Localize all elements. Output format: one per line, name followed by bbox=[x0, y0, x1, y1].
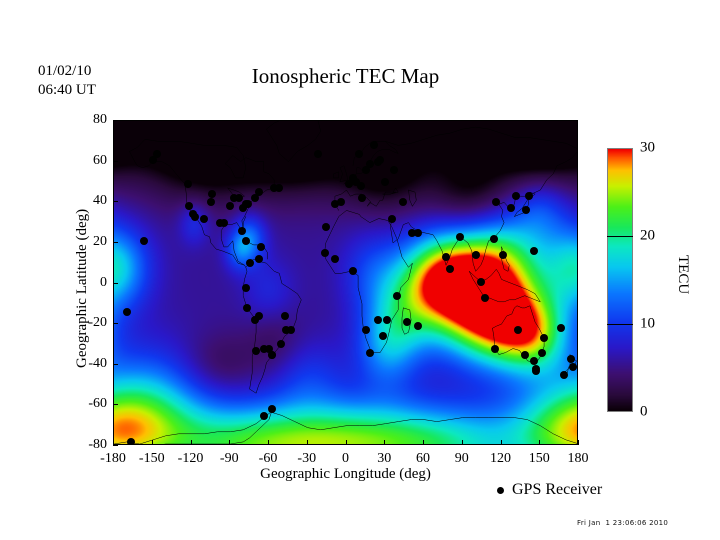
gps-receiver-marker bbox=[321, 249, 329, 257]
gps-receiver-marker bbox=[538, 349, 546, 357]
colorbar-title: TECU bbox=[674, 255, 691, 294]
gps-receiver-marker bbox=[337, 198, 345, 206]
gps-receiver-marker bbox=[560, 371, 568, 379]
gps-receiver-marker bbox=[127, 438, 135, 445]
gps-receiver-marker bbox=[238, 227, 246, 235]
gps-receiver-marker bbox=[207, 198, 215, 206]
colorbar bbox=[607, 148, 633, 412]
gps-receiver-marker bbox=[200, 215, 208, 223]
gps-receiver-marker bbox=[491, 345, 499, 353]
gps-receiver-markers bbox=[114, 121, 578, 445]
gps-receiver-marker bbox=[379, 332, 387, 340]
x-axis-tick bbox=[346, 440, 347, 445]
x-axis-tick bbox=[578, 440, 579, 445]
gps-receiver-marker bbox=[362, 326, 370, 334]
colorbar-tick-label: 20 bbox=[640, 228, 655, 245]
colorbar-tick-label: 0 bbox=[640, 404, 648, 421]
gps-receiver-marker bbox=[184, 180, 192, 188]
colorbar-tick-label: 10 bbox=[640, 316, 655, 333]
y-axis-tick-label: 40 bbox=[61, 193, 107, 209]
gps-receiver-marker bbox=[525, 192, 533, 200]
gps-receiver-marker bbox=[388, 215, 396, 223]
gps-receiver-marker bbox=[477, 278, 485, 286]
y-axis-tick-label: 60 bbox=[61, 153, 107, 169]
gps-receiver-marker bbox=[530, 357, 538, 365]
x-axis-tick bbox=[423, 440, 424, 445]
legend: GPS Receiver bbox=[497, 481, 602, 499]
y-axis-tick bbox=[113, 283, 118, 284]
gps-receiver-marker bbox=[390, 166, 398, 174]
y-axis-tick bbox=[113, 201, 118, 202]
colorbar-tick bbox=[607, 236, 633, 237]
gps-receiver-marker bbox=[376, 156, 384, 164]
gps-receiver-marker bbox=[246, 259, 254, 267]
gps-receiver-marker bbox=[567, 355, 575, 363]
gps-receiver-marker bbox=[257, 243, 265, 251]
gps-receiver-marker bbox=[357, 182, 365, 190]
gps-receiver-marker bbox=[374, 316, 382, 324]
gps-receiver-marker bbox=[191, 213, 199, 221]
gps-receiver-marker bbox=[268, 405, 276, 413]
gps-receiver-marker bbox=[569, 363, 577, 371]
x-axis-tick bbox=[191, 440, 192, 445]
x-axis-tick-label: 180 bbox=[548, 451, 608, 467]
tec-map-figure: 01/02/10 06:40 UT Ionospheric TEC Map -1… bbox=[0, 0, 720, 540]
gps-receiver-marker bbox=[208, 190, 216, 198]
gps-receiver-marker bbox=[530, 247, 538, 255]
y-axis-tick bbox=[113, 445, 118, 446]
gps-receiver-marker bbox=[512, 192, 520, 200]
gps-receiver-marker bbox=[349, 267, 357, 275]
x-axis-tick bbox=[539, 440, 540, 445]
y-axis-tick-label: -80 bbox=[61, 437, 107, 453]
x-axis-tick bbox=[384, 440, 385, 445]
gps-receiver-marker bbox=[414, 229, 422, 237]
observation-timestamp: 01/02/10 06:40 UT bbox=[38, 62, 96, 100]
gps-receiver-marker bbox=[456, 233, 464, 241]
colorbar-tick bbox=[607, 324, 633, 325]
gps-receiver-marker bbox=[226, 202, 234, 210]
gps-receiver-marker bbox=[185, 202, 193, 210]
gps-receiver-marker bbox=[472, 251, 480, 259]
y-axis-title: Geographic Latitude (deg) bbox=[74, 209, 91, 368]
gps-receiver-marker bbox=[255, 188, 263, 196]
gps-receiver-marker bbox=[355, 150, 363, 158]
gps-receiver-marker bbox=[521, 351, 529, 359]
gps-receiver-marker bbox=[260, 412, 268, 420]
page-title: Ionospheric TEC Map bbox=[113, 64, 578, 89]
y-axis-tick bbox=[113, 242, 118, 243]
observation-time: 06:40 UT bbox=[38, 82, 96, 98]
gps-receiver-marker bbox=[275, 184, 283, 192]
x-axis-tick bbox=[462, 440, 463, 445]
gps-receiver-marker bbox=[481, 294, 489, 302]
x-axis-tick bbox=[152, 440, 153, 445]
gps-receiver-marker bbox=[140, 237, 148, 245]
gps-receiver-marker bbox=[322, 223, 330, 231]
gps-receiver-marker bbox=[255, 312, 263, 320]
gps-receiver-marker bbox=[492, 198, 500, 206]
gps-receiver-marker bbox=[370, 141, 378, 149]
gps-receiver-marker bbox=[414, 322, 422, 330]
colorbar-gradient bbox=[607, 148, 633, 412]
x-axis-tick bbox=[268, 440, 269, 445]
gps-receiver-marker bbox=[277, 340, 285, 348]
gps-receiver-marker bbox=[282, 326, 290, 334]
gps-receiver-marker bbox=[446, 265, 454, 273]
generation-timestamp: Fri Jan 1 23:06:06 2010 bbox=[577, 519, 668, 527]
gps-receiver-marker bbox=[490, 235, 498, 243]
gps-receiver-marker bbox=[242, 237, 250, 245]
gps-receiver-marker bbox=[393, 292, 401, 300]
gps-receiver-marker bbox=[383, 316, 391, 324]
gps-receiver-marker bbox=[499, 251, 507, 259]
filled-circle-icon bbox=[497, 487, 504, 494]
gps-receiver-marker bbox=[242, 284, 250, 292]
y-axis-tick-label: -60 bbox=[61, 396, 107, 412]
tec-map-plot[interactable] bbox=[113, 120, 578, 445]
y-axis-tick bbox=[113, 323, 118, 324]
colorbar-tick-label: 30 bbox=[640, 140, 655, 157]
gps-receiver-marker bbox=[522, 206, 530, 214]
gps-receiver-marker bbox=[243, 304, 251, 312]
gps-receiver-marker bbox=[123, 308, 131, 316]
gps-receiver-marker bbox=[331, 255, 339, 263]
gps-receiver-marker bbox=[255, 255, 263, 263]
gps-receiver-marker bbox=[366, 349, 374, 357]
gps-receiver-marker bbox=[557, 324, 565, 332]
gps-receiver-marker bbox=[381, 178, 389, 186]
gps-receiver-marker bbox=[281, 312, 289, 320]
gps-receiver-marker bbox=[265, 345, 273, 353]
gps-receiver-marker bbox=[153, 150, 161, 158]
gps-receiver-marker bbox=[403, 318, 411, 326]
legend-label: GPS Receiver bbox=[512, 481, 602, 499]
gps-receiver-marker bbox=[244, 200, 252, 208]
y-axis-tick bbox=[113, 120, 118, 121]
gps-receiver-marker bbox=[507, 204, 515, 212]
x-axis-tick bbox=[307, 440, 308, 445]
gps-receiver-marker bbox=[399, 198, 407, 206]
gps-receiver-marker bbox=[220, 219, 228, 227]
y-axis-tick bbox=[113, 364, 118, 365]
y-axis-tick-label: 80 bbox=[61, 112, 107, 128]
x-axis-tick bbox=[501, 440, 502, 445]
y-axis-tick bbox=[113, 404, 118, 405]
gps-receiver-marker bbox=[314, 150, 322, 158]
gps-receiver-marker bbox=[540, 334, 548, 342]
observation-date: 01/02/10 bbox=[38, 63, 91, 79]
gps-receiver-marker bbox=[358, 194, 366, 202]
gps-receiver-marker bbox=[514, 326, 522, 334]
gps-receiver-marker bbox=[532, 365, 540, 373]
gps-receiver-marker bbox=[442, 253, 450, 261]
x-axis-tick bbox=[229, 440, 230, 445]
y-axis-tick bbox=[113, 161, 118, 162]
